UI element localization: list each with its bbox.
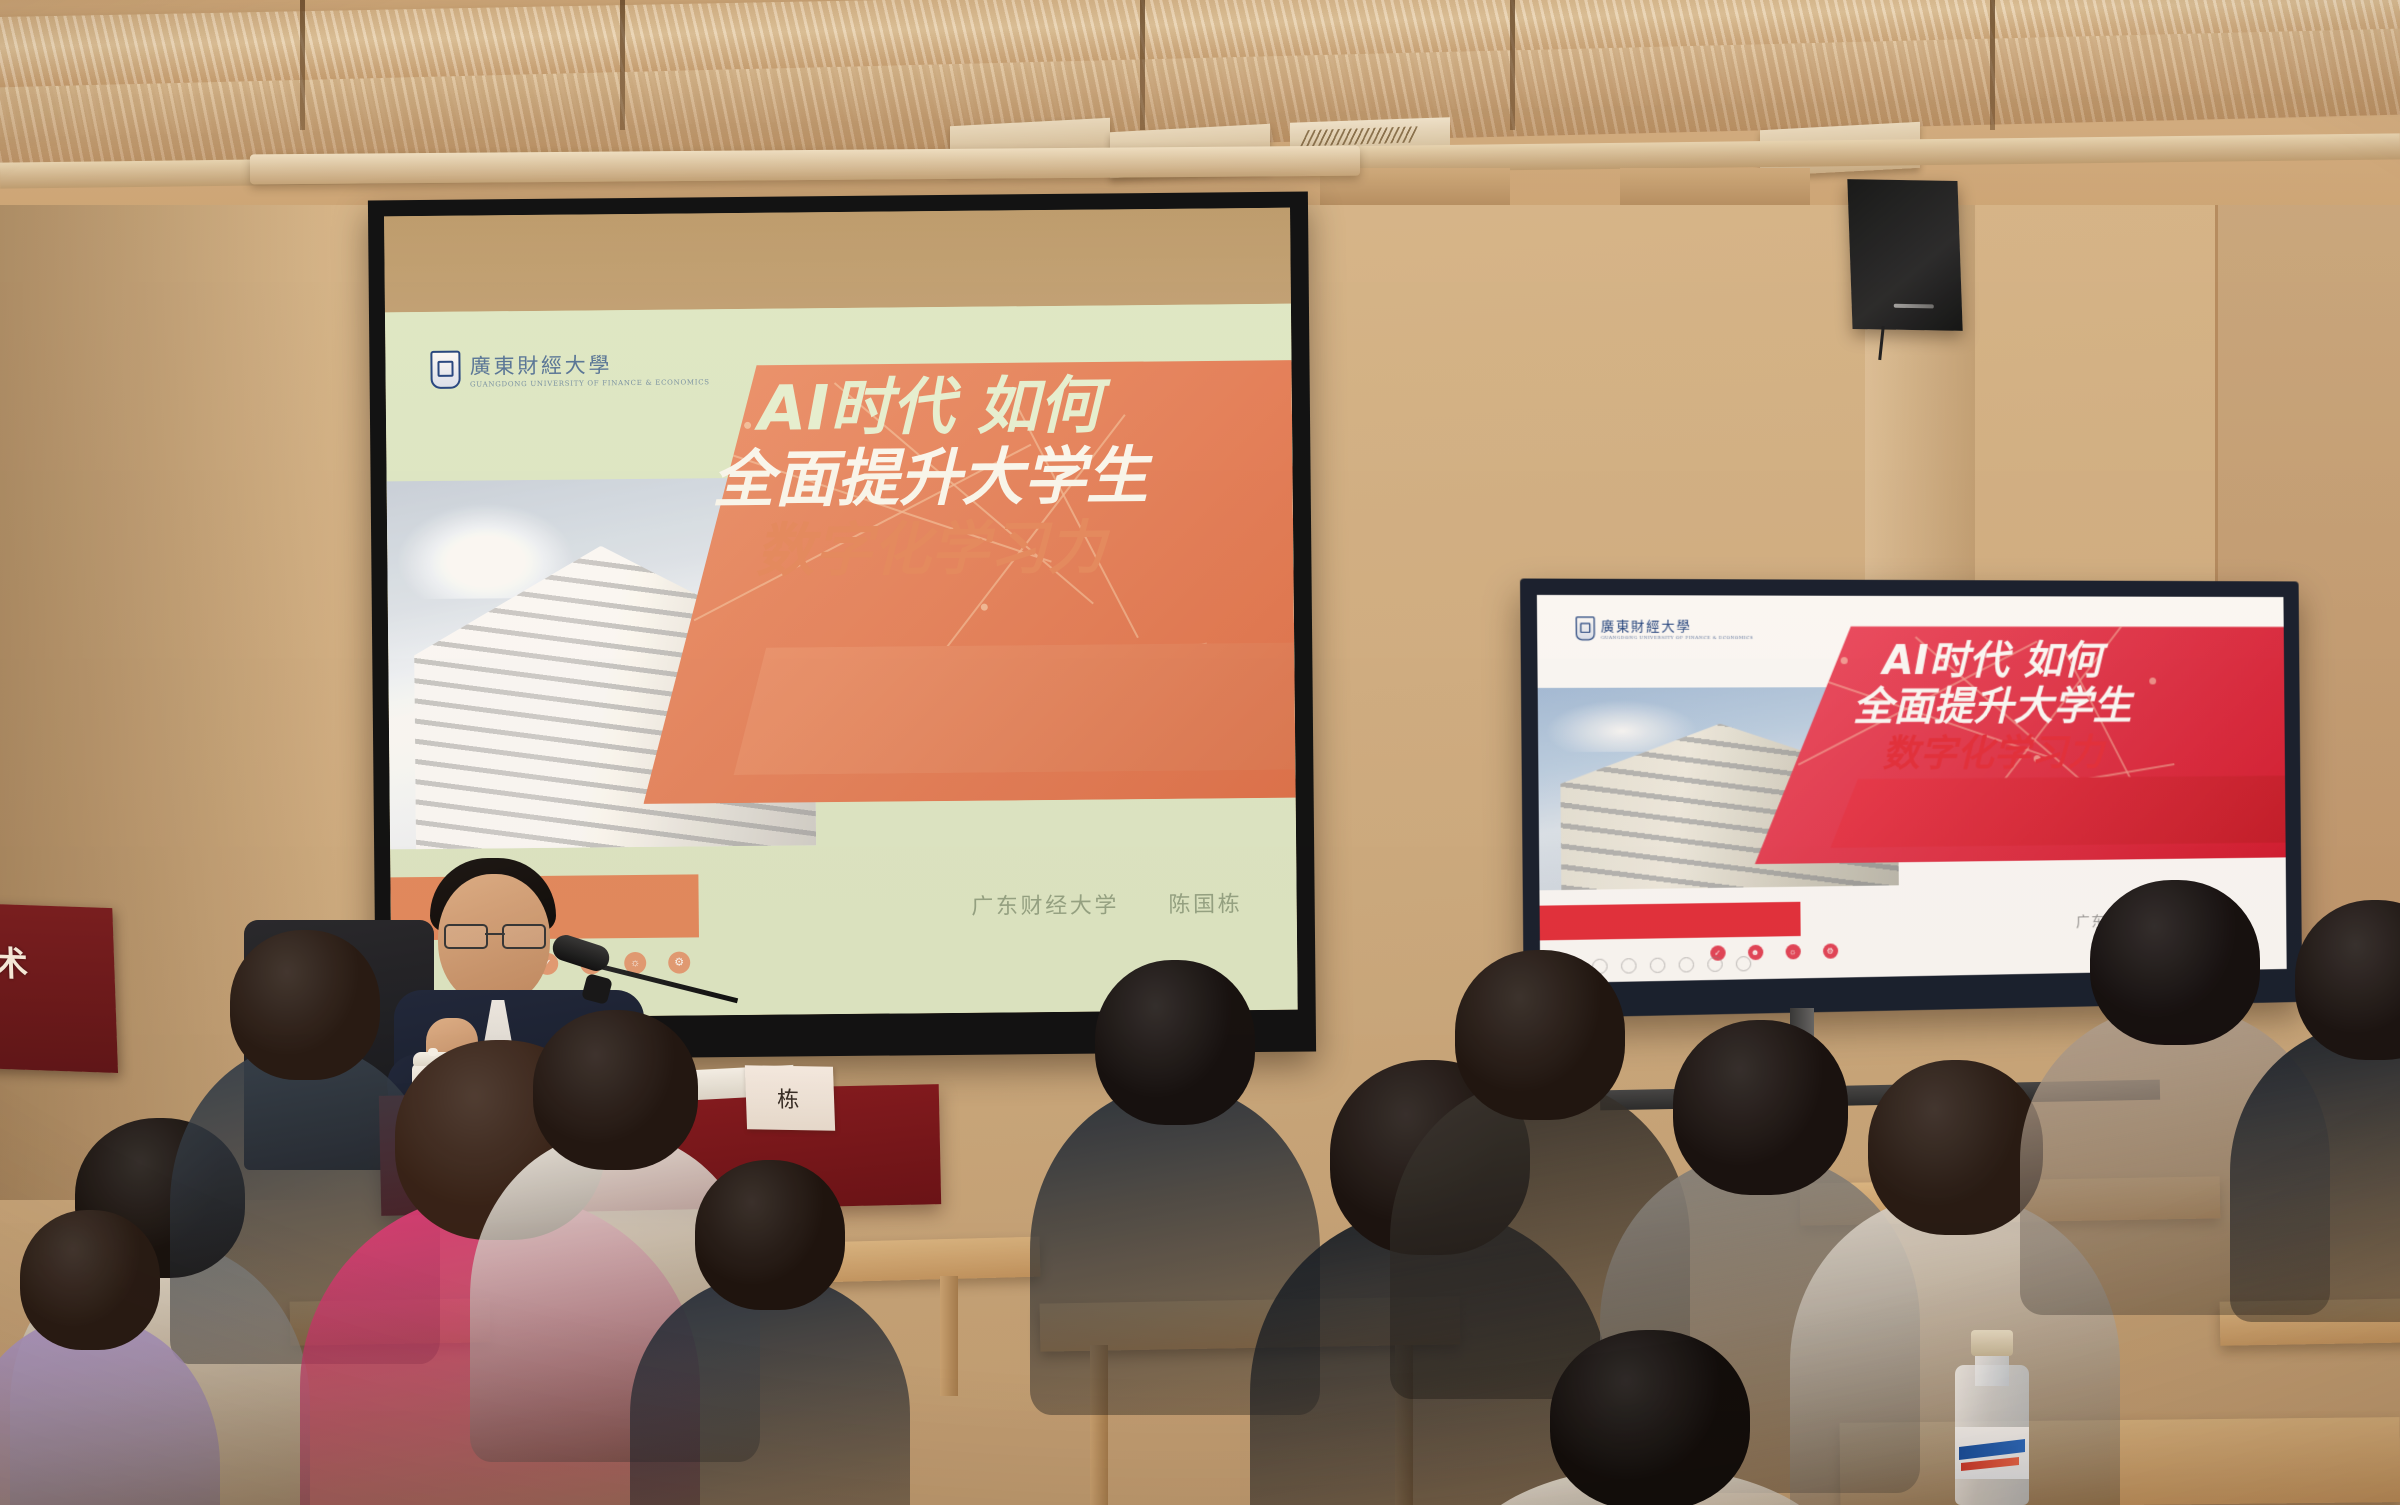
lecture-hall-scene: 廣東財經大學 GUANGDONG UNIVERSITY OF FINANCE &…: [0, 0, 2400, 1505]
duct-hanger: [300, 0, 305, 130]
student-back-right-3: [1460, 1330, 1840, 1505]
audience-head: [1550, 1330, 1750, 1505]
tv-slide-title: AI时代 如何 全面提升大学生 数字化学习力: [1722, 638, 2256, 777]
projection-unlit-band: [384, 208, 1291, 313]
gear-icon: ⚙: [1823, 943, 1838, 958]
university-crest-icon: [1576, 616, 1595, 640]
student-far-left-edge: [0, 1210, 220, 1505]
desk-leg: [940, 1276, 958, 1396]
student-mid-left: [630, 1160, 910, 1505]
duct-hanger: [620, 0, 625, 130]
glasses-icon: [444, 924, 546, 946]
bottle-cap: [1971, 1330, 2013, 1356]
tv-slide-title-line1: AI时代 如何: [1722, 638, 2255, 685]
duct-hanger: [1990, 0, 1995, 130]
wall-speaker: [1847, 179, 1962, 331]
audience-head: [533, 1010, 698, 1170]
gooseneck-microphone: [552, 940, 660, 980]
tv-slide-lower-band: [1830, 776, 2286, 848]
name-card-text: 栋: [776, 1082, 803, 1114]
tv-slide-title-line2: 全面提升大学生: [1723, 683, 2256, 731]
audience-head: [695, 1160, 845, 1310]
tv-slide-title-line3: 数字化学习力: [1723, 731, 2256, 777]
ceiling-box: [1620, 168, 1810, 205]
audience-head: [1095, 960, 1255, 1125]
slide-title-line1: AI时代 如何: [603, 368, 1256, 446]
slides-icon[interactable]: [1708, 957, 1723, 972]
duct-hanger: [1140, 0, 1145, 130]
water-bottle: [1955, 1330, 2029, 1505]
audience-torso: [2230, 1022, 2400, 1322]
slide-title: AI时代 如何 全面提升大学生 数字化学习力: [603, 368, 1257, 587]
slide-lower-band: [732, 643, 1295, 775]
tv-slide-accent-bar: [1540, 902, 1801, 941]
banner-text: 学术: [0, 935, 31, 987]
more-icon[interactable]: [1736, 956, 1751, 971]
slide-byline: 广东财经大学 陈国栋: [971, 886, 1242, 921]
audience-head: [1868, 1060, 2043, 1235]
student-back-right-2: [2230, 900, 2400, 1360]
bulb-icon: ☼: [1785, 944, 1800, 959]
bottle-neck: [1975, 1352, 2009, 1386]
audience-head: [2295, 900, 2400, 1060]
audience-head: [20, 1210, 160, 1350]
slide-title-line3: 数字化学习力: [604, 513, 1257, 587]
slide-title-line2: 全面提升大学生: [604, 439, 1257, 517]
university-crest-icon: [431, 350, 461, 388]
gear-icon: ⚙: [668, 951, 690, 973]
bottle-label: [1955, 1427, 2029, 1479]
duct-hanger: [1510, 0, 1515, 130]
wall-banner: 学术: [0, 902, 118, 1073]
